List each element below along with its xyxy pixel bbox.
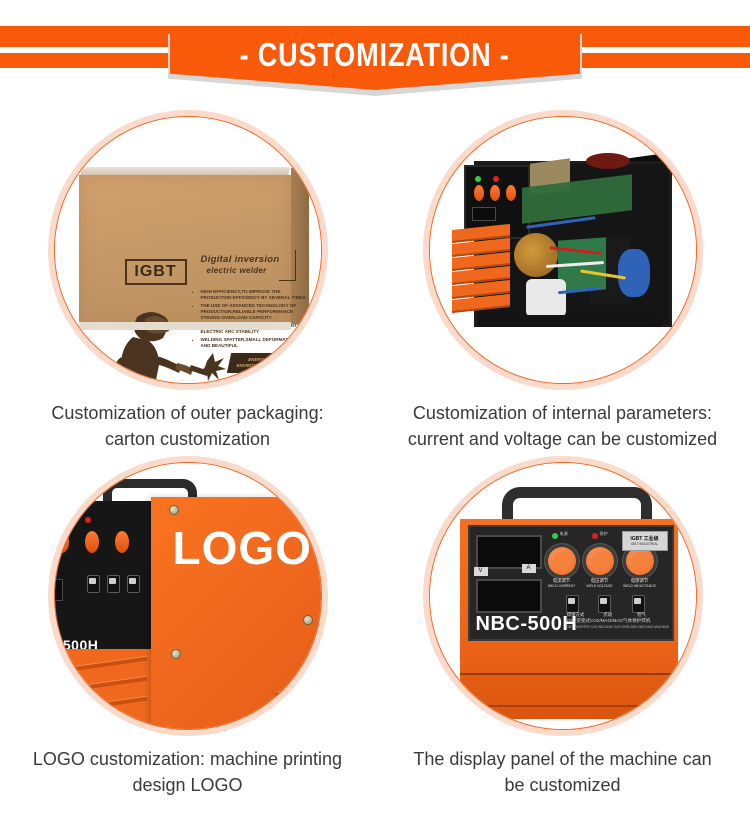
panel-socket	[54, 579, 63, 601]
logo-text: LOGO	[173, 521, 312, 575]
page-title: - CUSTOMIZATION -	[240, 35, 510, 75]
alarm-led-label: 保护	[600, 531, 608, 537]
welder-internals-photo	[430, 117, 696, 383]
current-knob	[548, 547, 576, 575]
jog-switch	[598, 595, 611, 613]
ribbon-line-2: ENVIRONMENTAL PROTECTION	[235, 363, 304, 369]
logo-panel-photo: BC-500H	[55, 463, 321, 729]
gas-check-switch	[632, 595, 645, 613]
body-seam	[460, 673, 678, 675]
power-led-label: 电源	[560, 531, 568, 537]
display-tag-v: V	[474, 567, 488, 576]
circle-frame: V A 电源 保护 电流调节 电压调节 电感调节 WELD CURRENT	[423, 456, 703, 736]
panel-knob	[474, 185, 484, 201]
circle-inner: V A 电源 保护 电流调节 电压调节 电感调节 WELD CURRENT	[429, 462, 697, 730]
display-panel-photo: V A 电源 保护 电流调节 电压调节 电感调节 WELD CURRENT	[430, 463, 696, 729]
power-led	[61, 517, 67, 523]
carton-base	[79, 322, 291, 330]
page-header: - CUSTOMIZATION -	[0, 0, 750, 108]
panel-switch	[87, 575, 100, 593]
jog-label: 点动	[591, 612, 625, 617]
welder-illustration	[107, 303, 227, 384]
carton-headline-1: Digital inversion	[201, 254, 280, 265]
card-caption: Customization of outer packaging: carton…	[28, 400, 348, 452]
voltage-knob-sublabel: WELD VOLTAGE	[583, 584, 617, 589]
knob-cap	[553, 552, 571, 570]
side-vent	[54, 696, 147, 716]
panel-knob	[506, 185, 516, 201]
carton-bracket	[279, 250, 296, 281]
circle-frame: BC-500H	[48, 456, 328, 736]
power-led	[552, 533, 558, 539]
display-tag-a: A	[522, 564, 536, 573]
power-led	[475, 176, 481, 182]
carton-bullet: HIGH EFFICIENCY,TO IMPROVE THE PRODUCTIO…	[201, 289, 313, 301]
side-vent	[54, 656, 147, 676]
card-outer-packaging: IGBT Digital inversion electric welder H…	[0, 108, 375, 452]
chassis-base	[478, 315, 662, 327]
screw	[169, 505, 179, 515]
panel-switch	[127, 575, 140, 593]
panel-switch	[107, 575, 120, 593]
heat-sink-fins	[452, 225, 512, 313]
panel-knob	[115, 531, 129, 553]
panel-knob	[85, 531, 99, 553]
current-display	[476, 579, 542, 613]
capacitor-blue	[618, 249, 650, 297]
side-lower-body	[54, 649, 165, 730]
copper-inductor	[514, 233, 558, 277]
voltage-knob-label: 电压调节	[583, 578, 617, 583]
card-display-panel: V A 电源 保护 电流调节 电压调节 电感调节 WELD CURRENT	[375, 452, 750, 798]
current-knob-sublabel: WELD CURRENT	[545, 584, 579, 589]
circle-inner	[429, 116, 697, 384]
spec-line-2: IGBT INVERTER CO2 WELDING GAS SHIELDED W…	[566, 624, 669, 630]
gas-check-label: 检气	[625, 612, 659, 617]
card-internal-parameters: Customization of internal parameters: cu…	[375, 108, 750, 452]
card-caption: The display panel of the machine can be …	[403, 746, 723, 798]
panel-knob	[490, 185, 500, 201]
toroid-coil-red	[586, 153, 630, 169]
circle-frame	[423, 110, 703, 390]
panel-vent	[275, 682, 322, 696]
weld-mode-switch	[566, 595, 579, 613]
alarm-led	[493, 176, 499, 182]
knob-cap	[591, 552, 609, 570]
cooling-fan	[526, 279, 566, 317]
voltage-knob	[586, 547, 614, 575]
screw	[303, 615, 313, 625]
circle-inner: IGBT Digital inversion electric welder H…	[54, 116, 322, 384]
panel-display	[472, 207, 496, 221]
carton-box-photo: IGBT Digital inversion electric welder H…	[55, 117, 321, 383]
circle-frame: IGBT Digital inversion electric welder H…	[48, 110, 328, 390]
badge-subtitle: IGBT INDUSTRIAL	[631, 542, 658, 546]
card-caption: LOGO customization: machine printing des…	[28, 746, 348, 798]
inductance-knob-label: 电感调节	[623, 578, 657, 583]
knob-cap	[631, 552, 649, 570]
current-knob-label: 电流调节	[545, 578, 579, 583]
carton-headline-2: electric welder	[207, 266, 267, 275]
side-control-panel: BC-500H	[54, 501, 165, 651]
inductance-knob-sublabel: WELD INDUCTANCE	[623, 584, 657, 589]
cards-row-1: IGBT Digital inversion electric welder H…	[0, 108, 750, 452]
igbt-logo: IGBT	[125, 259, 187, 285]
model-label: NBC-500H	[476, 613, 578, 636]
carton-front-face: IGBT Digital inversion electric welder H…	[79, 175, 291, 327]
card-logo-customization: BC-500H	[0, 452, 375, 798]
cards-grid: IGBT Digital inversion electric welder H…	[0, 108, 750, 798]
side-vent	[54, 676, 147, 696]
panel-knob	[55, 531, 69, 553]
panel-vents	[275, 685, 322, 730]
alarm-led	[592, 533, 598, 539]
screw	[299, 511, 309, 521]
screw	[171, 649, 181, 659]
alarm-led	[85, 517, 91, 523]
igbt-industrial-badge: IGBT 工业级 IGBT INDUSTRIAL	[622, 531, 668, 551]
card-caption: Customization of internal parameters: cu…	[403, 400, 723, 452]
body-seam	[460, 705, 678, 707]
carton-ribbon: ENERGY-SAVING AND ENVIRONMENTAL PROTECTI…	[226, 353, 314, 373]
circle-inner: BC-500H	[54, 462, 322, 730]
cards-row-2: BC-500H	[0, 452, 750, 798]
inductance-knob	[626, 547, 654, 575]
